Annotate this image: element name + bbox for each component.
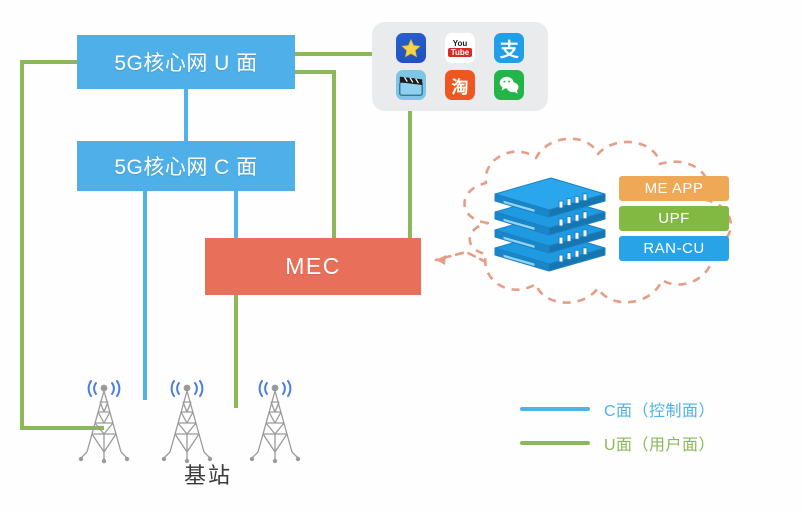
youtube-tube-text: Tube — [448, 48, 473, 57]
base-station-tower-2[interactable] — [156, 378, 218, 464]
app-row-bottom: 淘 — [386, 70, 534, 100]
me-app-bar[interactable]: ME APP — [619, 176, 729, 201]
base-station-label: 基站 — [153, 458, 263, 490]
legend-control-plane-label: C面（控制面） — [604, 397, 715, 421]
base-station-tower-3[interactable] — [244, 378, 306, 464]
youtube-icon[interactable]: You Tube — [445, 33, 475, 63]
clapper-icon[interactable] — [396, 70, 426, 100]
mec-node-label: MEC — [285, 253, 341, 280]
wechat-icon[interactable] — [494, 70, 524, 100]
server-stack — [489, 172, 611, 272]
legend-control-plane-swatch — [520, 407, 590, 411]
clapper-glyph — [397, 71, 425, 99]
legend-user-plane: U面（用户面） — [520, 426, 750, 460]
upf-bar[interactable]: UPF — [619, 206, 729, 231]
ran-cu-label: RAN-CU — [643, 240, 704, 257]
ran-cu-bar[interactable]: RAN-CU — [619, 236, 729, 261]
legend-user-plane-swatch — [520, 441, 590, 445]
star-glyph — [400, 37, 422, 59]
star-app-icon[interactable] — [396, 33, 426, 63]
me-app-label: ME APP — [645, 180, 704, 197]
wechat-glyph — [497, 73, 521, 97]
alipay-icon[interactable]: 支 — [494, 33, 524, 63]
mec-node[interactable]: MEC — [205, 238, 421, 295]
legend-user-plane-label: U面（用户面） — [604, 431, 715, 455]
5g-core-control-plane[interactable]: 5G核心网 C 面 — [77, 141, 295, 191]
application-panel: You Tube 支 淘 — [372, 22, 548, 111]
5g-core-user-plane[interactable]: 5G核心网 U 面 — [77, 35, 295, 89]
taobao-glyph: 淘 — [451, 73, 468, 98]
diagram-canvas: 5G核心网 U 面 5G核心网 C 面 MEC You Tube 支 — [0, 0, 804, 511]
alipay-glyph: 支 — [500, 35, 519, 62]
wire-u-to-mec — [295, 72, 334, 238]
cloud-leader-arrow — [436, 255, 446, 265]
legend: C面（控制面） U面（用户面） — [520, 392, 750, 460]
youtube-you-text: You — [453, 39, 468, 48]
5g-core-user-plane-label: 5G核心网 U 面 — [114, 47, 257, 77]
app-row-top: You Tube 支 — [386, 33, 534, 63]
wire-u-to-tower1 — [22, 62, 104, 428]
taobao-icon[interactable]: 淘 — [445, 70, 475, 100]
upf-label: UPF — [658, 210, 690, 227]
legend-control-plane: C面（控制面） — [520, 392, 750, 426]
5g-core-control-plane-label: 5G核心网 C 面 — [114, 151, 257, 181]
base-station-tower-1[interactable] — [73, 378, 135, 464]
